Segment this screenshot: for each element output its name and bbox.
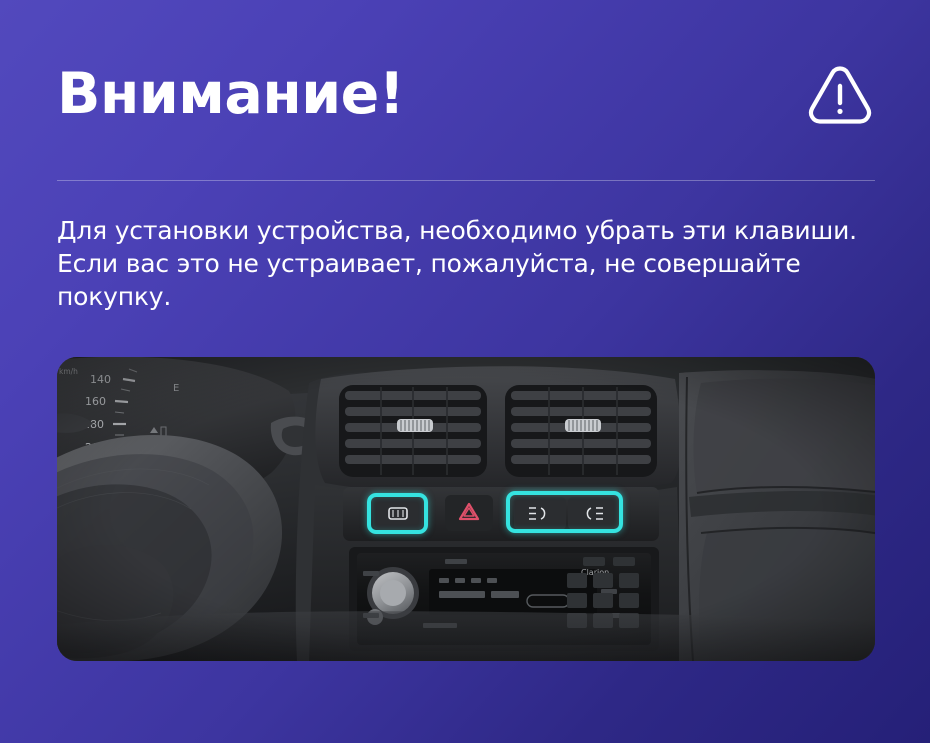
warning-banner: Внимание! Для установки устройства, необ… bbox=[0, 0, 930, 743]
dashboard-photo: 140 160 180 200 km/h E C bbox=[57, 357, 875, 661]
banner-body-text: Для установки устройства, необходимо убр… bbox=[57, 214, 857, 313]
warning-triangle-icon bbox=[805, 59, 875, 129]
highlight-fog-light-buttons bbox=[506, 491, 623, 533]
header-divider bbox=[57, 180, 875, 181]
body-line-2: Если вас это не устраивает, пожалуйста, … bbox=[57, 247, 857, 280]
body-line-1: Для установки устройства, необходимо убр… bbox=[57, 214, 857, 247]
page-title: Внимание! bbox=[57, 66, 404, 123]
body-line-3: покупку. bbox=[57, 280, 857, 313]
highlight-rear-defogger-button bbox=[367, 493, 428, 534]
banner-header: Внимание! bbox=[57, 48, 875, 140]
